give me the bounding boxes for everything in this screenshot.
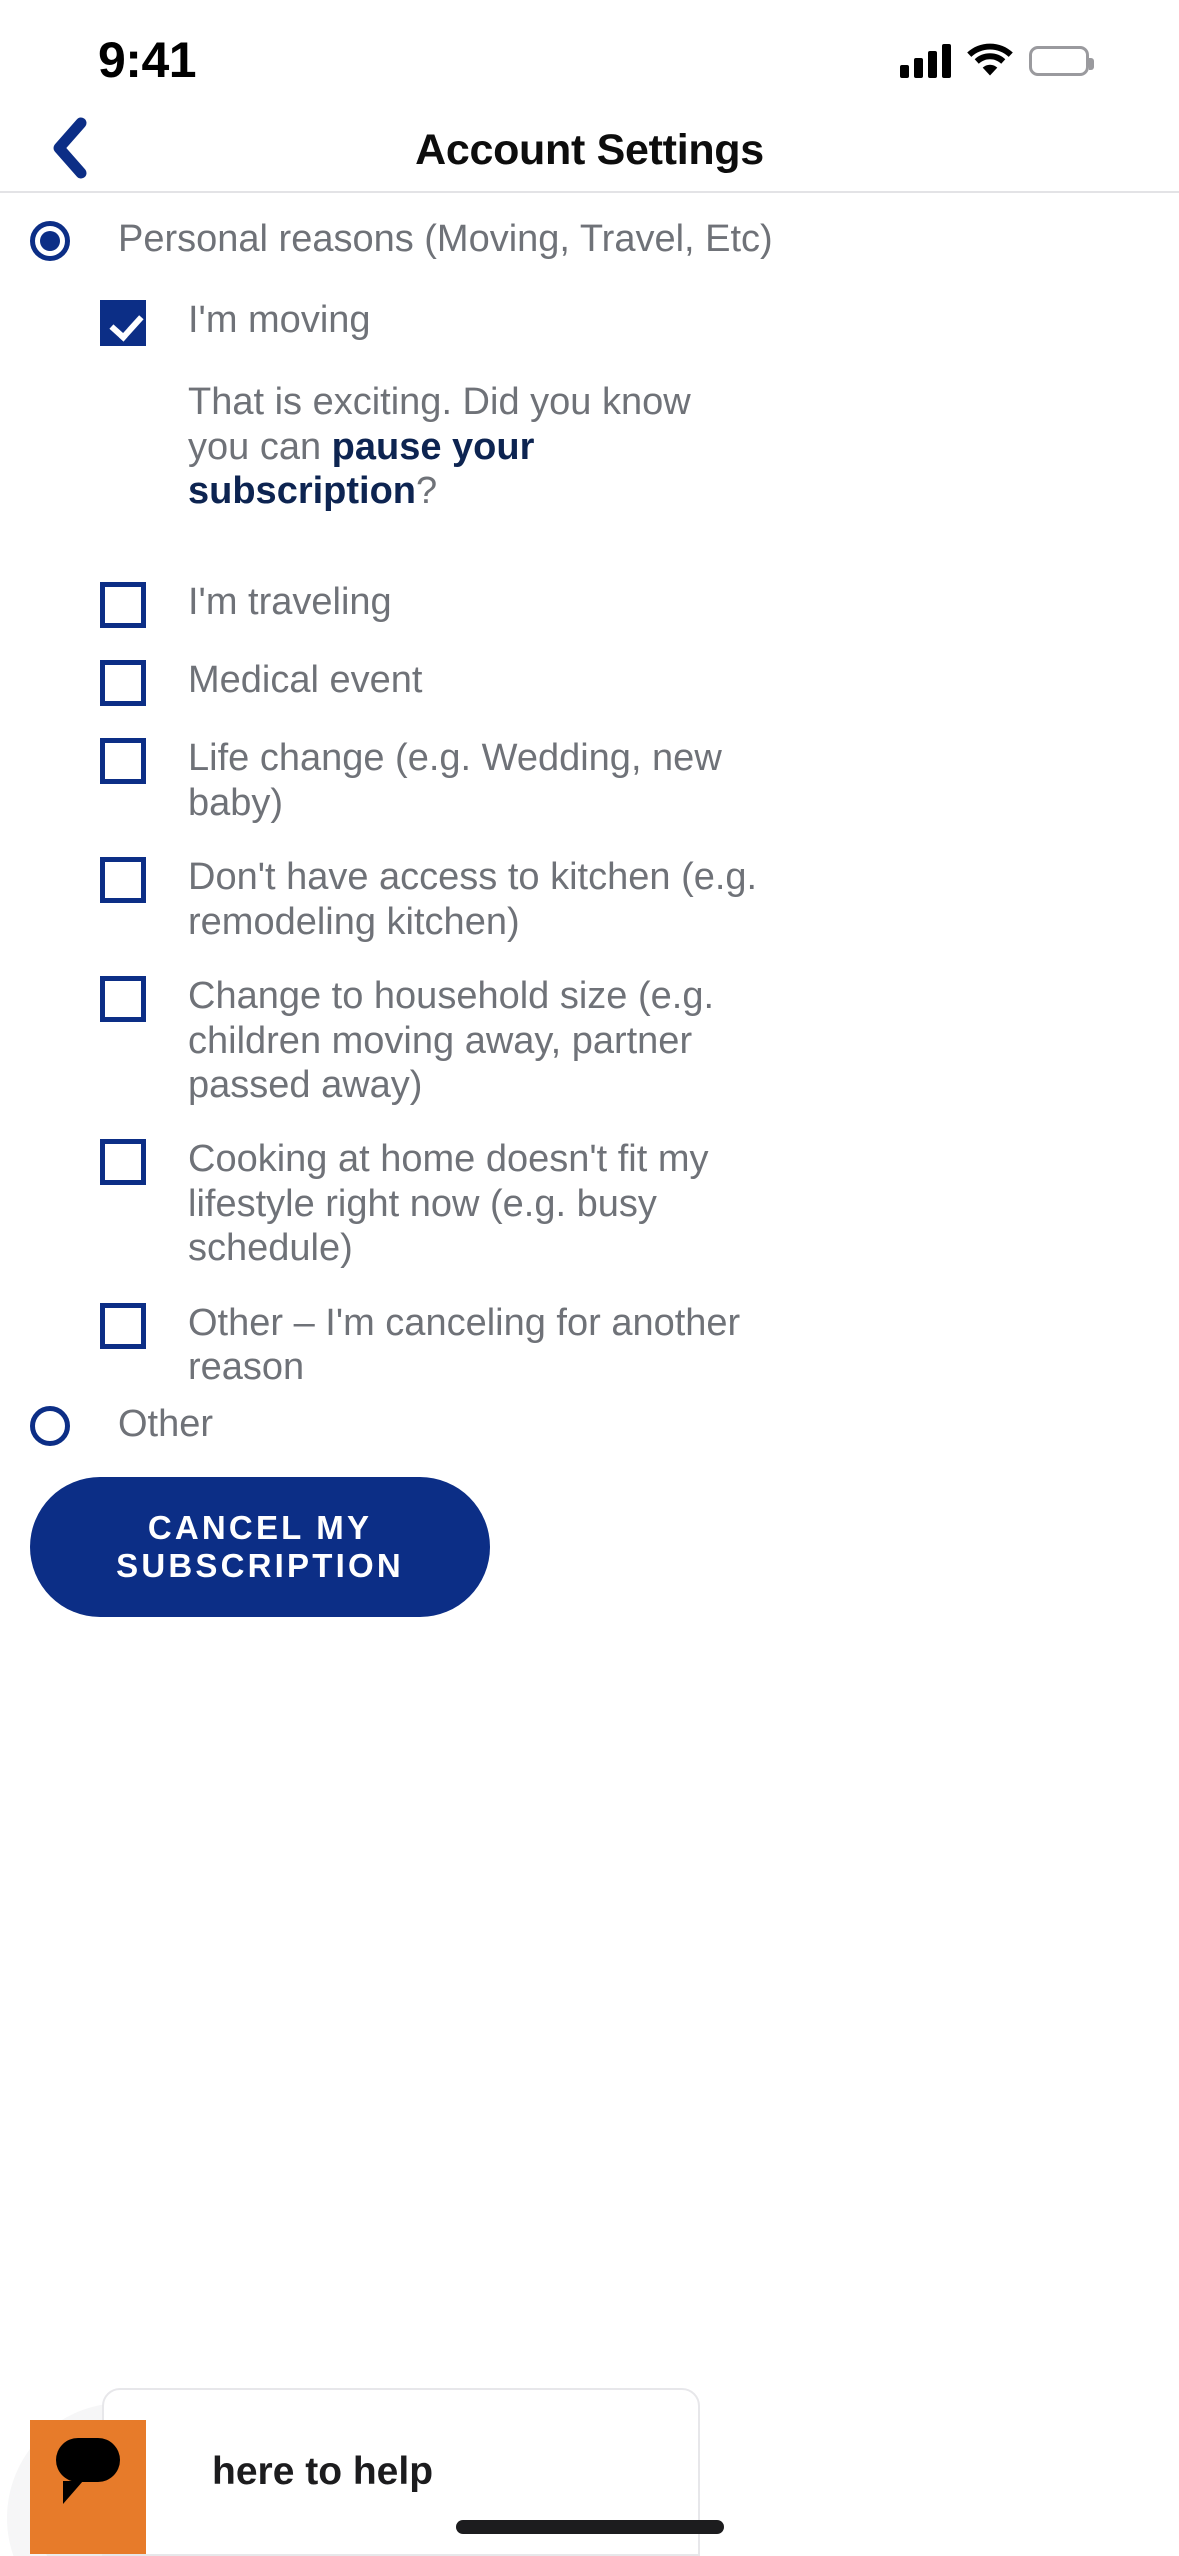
chat-launcher-button[interactable] bbox=[30, 2420, 146, 2554]
back-button[interactable] bbox=[34, 116, 104, 186]
cancellation-form: Personal reasons (Moving, Travel, Etc) I… bbox=[0, 193, 1179, 1617]
checkbox-option-im-moving[interactable]: I'm moving bbox=[100, 296, 1179, 346]
checkbox-option-life-change-label: Life change (e.g. Wedding, new baby) bbox=[188, 734, 788, 825]
battery-icon bbox=[1029, 46, 1089, 76]
home-indicator[interactable] bbox=[456, 2520, 724, 2534]
checkbox-icon-unchecked[interactable] bbox=[100, 660, 146, 706]
checkbox-option-other-reason[interactable]: Other – I'm canceling for another reason bbox=[100, 1299, 1179, 1390]
checkbox-option-im-traveling[interactable]: I'm traveling bbox=[100, 578, 1179, 628]
checkbox-option-household-size-change-label: Change to household size (e.g. children … bbox=[188, 972, 788, 1107]
checkbox-icon-unchecked[interactable] bbox=[100, 976, 146, 1022]
checkbox-option-life-change[interactable]: Life change (e.g. Wedding, new baby) bbox=[100, 734, 1179, 825]
checkbox-option-im-traveling-label: I'm traveling bbox=[188, 578, 392, 624]
chat-help-card-text: here to help bbox=[212, 2450, 433, 2494]
pause-subscription-message: That is exciting. Did you know you can p… bbox=[188, 380, 748, 514]
wifi-icon bbox=[967, 42, 1013, 81]
checkbox-icon-unchecked[interactable] bbox=[100, 738, 146, 784]
radio-option-other[interactable]: Other bbox=[0, 1390, 1179, 1447]
status-bar-time: 9:41 bbox=[98, 25, 196, 85]
cellular-signal-icon bbox=[900, 44, 951, 78]
checkbox-list: I'm traveling Medical event Life change … bbox=[100, 578, 1179, 1389]
page-title: Account Settings bbox=[0, 126, 1179, 175]
cancel-my-subscription-button[interactable]: CANCEL MY SUBSCRIPTION bbox=[30, 1477, 490, 1617]
checkbox-icon-unchecked[interactable] bbox=[100, 1303, 146, 1349]
chat-bubble-icon bbox=[56, 2438, 120, 2482]
radio-option-personal-reasons[interactable]: Personal reasons (Moving, Travel, Etc) bbox=[0, 193, 1179, 262]
checkbox-icon-unchecked[interactable] bbox=[100, 857, 146, 903]
checkbox-option-lifestyle-fit-label: Cooking at home doesn't fit my lifestyle… bbox=[188, 1135, 788, 1270]
status-bar-icons bbox=[900, 30, 1089, 81]
radio-option-other-label: Other bbox=[118, 1400, 213, 1447]
checkbox-option-no-kitchen-access-label: Don't have access to kitchen (e.g. remod… bbox=[188, 853, 788, 944]
radio-option-personal-reasons-label: Personal reasons (Moving, Travel, Etc) bbox=[118, 215, 773, 262]
cta-container: CANCEL MY SUBSCRIPTION bbox=[0, 1447, 1179, 1617]
app-screen: 9:41 Account bbox=[0, 0, 1179, 2556]
checkbox-icon-unchecked[interactable] bbox=[100, 582, 146, 628]
radio-icon-selected[interactable] bbox=[30, 221, 70, 261]
checkbox-option-lifestyle-fit[interactable]: Cooking at home doesn't fit my lifestyle… bbox=[100, 1135, 1179, 1270]
helper-message-tail: ? bbox=[416, 470, 437, 512]
checkbox-group: I'm moving That is exciting. Did you kno… bbox=[0, 262, 1179, 1390]
status-bar: 9:41 bbox=[0, 0, 1179, 110]
checkbox-option-im-moving-label: I'm moving bbox=[188, 296, 371, 342]
checkbox-option-household-size-change[interactable]: Change to household size (e.g. children … bbox=[100, 972, 1179, 1107]
checkbox-icon-checked[interactable] bbox=[100, 300, 146, 346]
radio-icon-unselected[interactable] bbox=[30, 1406, 70, 1446]
checkbox-icon-unchecked[interactable] bbox=[100, 1139, 146, 1185]
chevron-left-icon bbox=[51, 117, 87, 184]
nav-header: Account Settings bbox=[0, 110, 1179, 193]
checkbox-option-no-kitchen-access[interactable]: Don't have access to kitchen (e.g. remod… bbox=[100, 853, 1179, 944]
checkbox-option-other-reason-label: Other – I'm canceling for another reason bbox=[188, 1299, 788, 1390]
checkbox-option-medical-event[interactable]: Medical event bbox=[100, 656, 1179, 706]
checkbox-option-medical-event-label: Medical event bbox=[188, 656, 422, 702]
